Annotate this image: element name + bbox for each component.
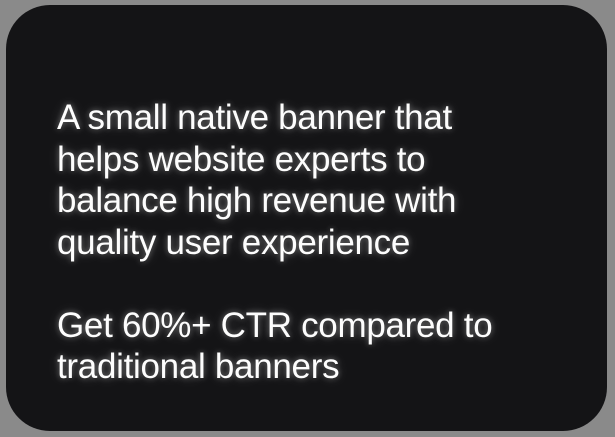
ad-subline-text: Get 60%+ CTR compared to traditional ban… bbox=[57, 305, 567, 388]
ad-headline-text: A small native banner that helps website… bbox=[57, 97, 567, 263]
ad-canvas: A small native banner that helps website… bbox=[0, 0, 615, 437]
ad-copy-block: A small native banner that helps website… bbox=[57, 97, 567, 388]
ad-card[interactable]: A small native banner that helps website… bbox=[6, 5, 607, 431]
